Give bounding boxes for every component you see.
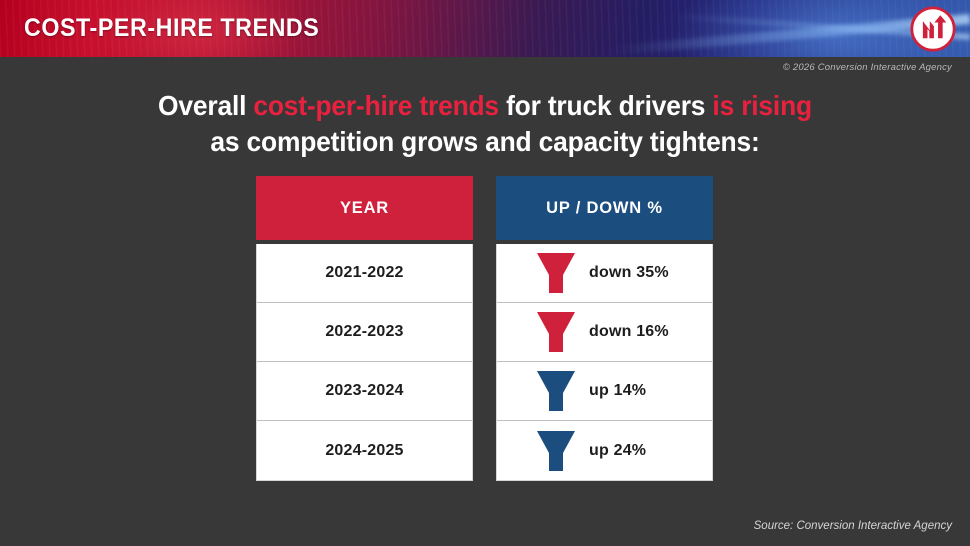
table-row: 2024-2025: [257, 421, 472, 480]
trend-label: up 24%: [589, 442, 646, 460]
headline: Overall cost-per-hire trends for truck d…: [19, 88, 950, 160]
headline-highlight-1: cost-per-hire trends: [253, 90, 499, 121]
headline-highlight-2: is rising: [712, 90, 812, 121]
source-note: Source: Conversion Interactive Agency: [754, 520, 952, 532]
arrow-down-icon: [535, 310, 577, 354]
table-row: 2021-2022: [257, 244, 472, 303]
trend-label: up 14%: [589, 382, 646, 400]
table-row: up 14%: [497, 362, 712, 421]
arrow-down-icon: [535, 251, 577, 295]
year-column-header: YEAR: [256, 176, 473, 240]
headline-segment-2: for truck drivers: [499, 90, 712, 121]
headline-line-2: as competition grows and capacity tighte…: [210, 126, 759, 157]
year-column: YEAR 2021-2022 2022-2023 2023-2024 2024-…: [256, 176, 473, 481]
headline-segment-1: Overall: [158, 90, 253, 121]
conversion-arrow-logo-icon: [910, 6, 956, 52]
table-row: down 16%: [497, 303, 712, 362]
year-column-body: 2021-2022 2022-2023 2023-2024 2024-2025: [256, 244, 473, 481]
trends-table: YEAR 2021-2022 2022-2023 2023-2024 2024-…: [256, 176, 714, 481]
page-title: COST-PER-HIRE TRENDS: [24, 14, 319, 43]
updown-column-header: UP / DOWN %: [496, 176, 713, 240]
table-row: up 24%: [497, 421, 712, 480]
table-row: down 35%: [497, 244, 712, 303]
arrow-up-icon: [535, 429, 577, 473]
table-row: 2023-2024: [257, 362, 472, 421]
trend-label: down 35%: [589, 264, 669, 282]
copyright-text: © 2026 Conversion Interactive Agency: [783, 62, 952, 73]
updown-column: UP / DOWN % down 35% down 16% up 14%: [496, 176, 713, 481]
top-banner: COST-PER-HIRE TRENDS: [0, 0, 970, 57]
trend-label: down 16%: [589, 323, 669, 341]
updown-column-body: down 35% down 16% up 14% up 24%: [496, 244, 713, 481]
arrow-up-icon: [535, 369, 577, 413]
table-row: 2022-2023: [257, 303, 472, 362]
